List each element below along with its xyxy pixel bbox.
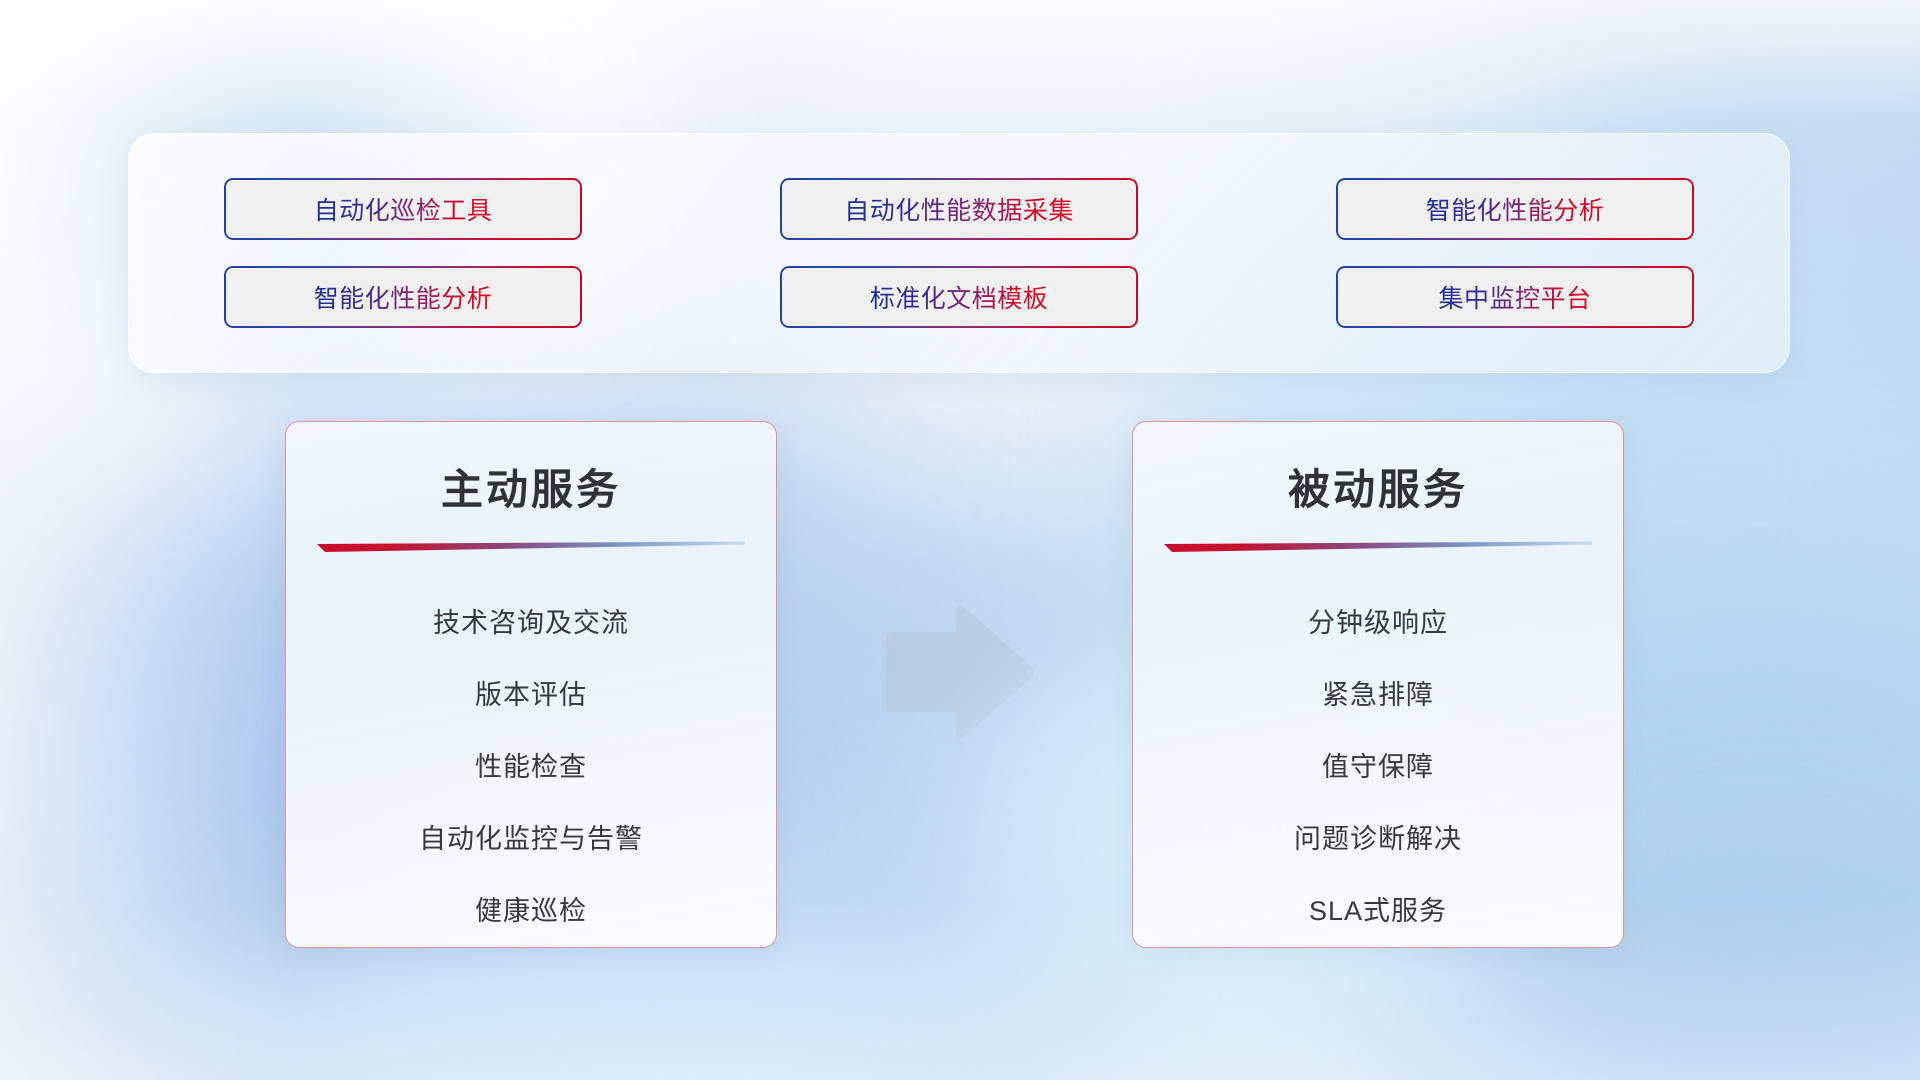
card-list-item: 版本评估 — [475, 659, 587, 731]
capability-pill-automated-inspection-tool[interactable]: 自动化巡检工具 — [224, 178, 582, 240]
card-item-list: 分钟级响应 紧急排障 值守保障 问题诊断解决 SLA式服务 — [1133, 587, 1623, 947]
card-list-item: 技术咨询及交流 — [433, 587, 629, 659]
capabilities-panel: 自动化巡检工具 自动化性能数据采集 智能化性能分析 智能化性能分析 标准化文档模… — [128, 133, 1790, 373]
capability-pill-label: 集中监控平台 — [1438, 279, 1591, 315]
capability-pill-label: 标准化文档模板 — [870, 279, 1049, 315]
card-divider — [317, 541, 745, 553]
card-title: 被动服务 — [1288, 456, 1468, 517]
capability-pill-label: 自动化性能数据采集 — [844, 191, 1074, 227]
capability-pill-automated-performance-data-collection[interactable]: 自动化性能数据采集 — [780, 178, 1138, 240]
card-list-item: 紧急排障 — [1322, 659, 1434, 731]
card-item-list: 技术咨询及交流 版本评估 性能检查 自动化监控与告警 健康巡检 — [286, 587, 776, 947]
capability-pill-intelligent-performance-analysis[interactable]: 智能化性能分析 — [1336, 178, 1694, 240]
capability-pill-centralized-monitoring-platform[interactable]: 集中监控平台 — [1336, 266, 1694, 328]
card-list-item: 健康巡检 — [475, 875, 587, 947]
card-list-item: SLA式服务 — [1309, 875, 1447, 947]
service-card-proactive[interactable]: 主动服务 技术咨询及交流 版本评估 性能检查 自动化监控与告警 健康巡检 — [285, 421, 777, 948]
card-list-item: 值守保障 — [1322, 731, 1434, 803]
background-haze-top — [0, 0, 1920, 120]
card-list-item: 自动化监控与告警 — [419, 803, 643, 875]
capabilities-row-2: 智能化性能分析 标准化文档模板 集中监控平台 — [224, 266, 1694, 328]
capability-pill-intelligent-performance-analysis-2[interactable]: 智能化性能分析 — [224, 266, 582, 328]
service-card-reactive[interactable]: 被动服务 分钟级响应 紧急排障 值守保障 问题诊断解决 SLA式服务 — [1132, 421, 1624, 948]
card-divider — [1164, 541, 1592, 553]
capabilities-row-1: 自动化巡检工具 自动化性能数据采集 智能化性能分析 — [224, 178, 1694, 240]
card-list-item: 性能检查 — [475, 731, 587, 803]
capability-pill-label: 自动化巡检工具 — [314, 191, 493, 227]
capability-pill-label: 智能化性能分析 — [314, 279, 493, 315]
card-title: 主动服务 — [441, 456, 621, 517]
arrow-right-icon — [878, 600, 1038, 745]
capability-pill-label: 智能化性能分析 — [1426, 191, 1605, 227]
card-list-item: 问题诊断解决 — [1294, 803, 1462, 875]
card-list-item: 分钟级响应 — [1308, 587, 1448, 659]
capability-pill-standardized-document-template[interactable]: 标准化文档模板 — [780, 266, 1138, 328]
